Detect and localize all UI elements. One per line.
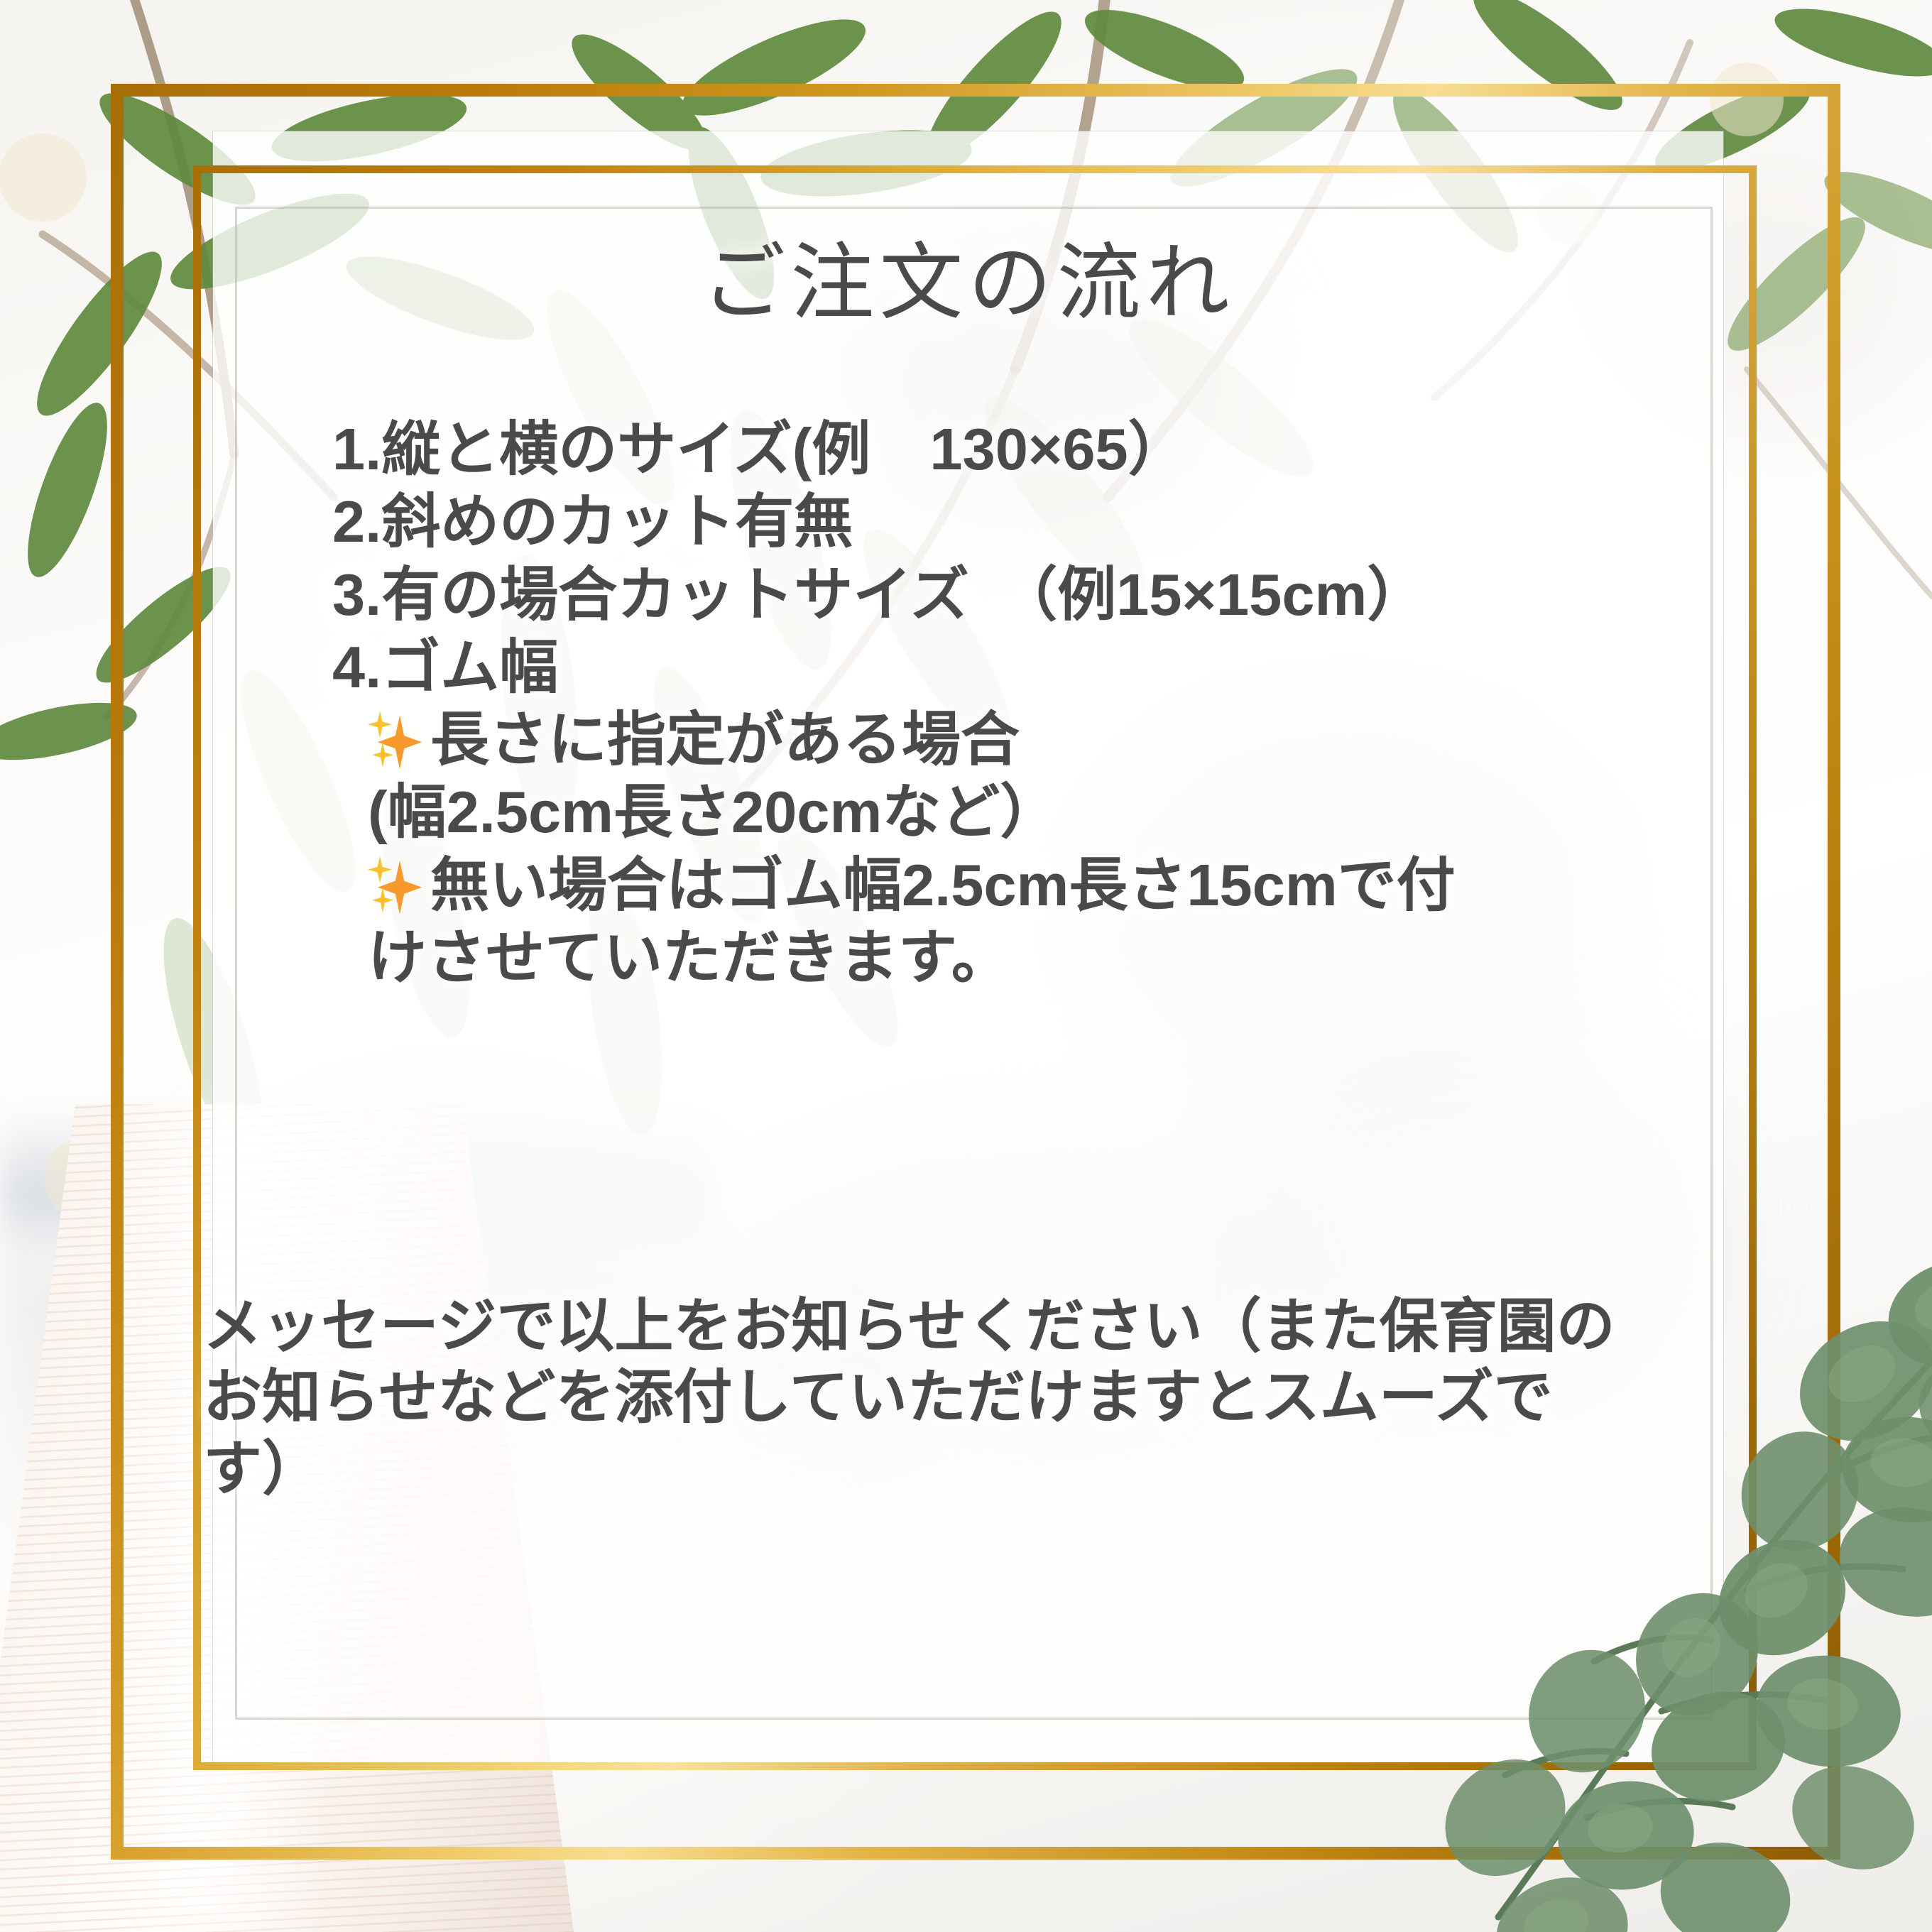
note-1-text: 長さに指定がある場合 [430,706,1020,774]
footer-line-1: メッセージで以上をお知らせください（また保育園の [203,1292,1730,1360]
poster-content: ご注文の流れ 1.縦と横のサイズ(例 130×65） 2.斜めのカット有無 3.… [213,131,1723,1766]
list-item-step-4: 4.ゴム幅 [261,633,1695,702]
sparkles-icon [368,709,429,770]
list-item-step-2: 2.斜めのカット有無 [261,488,1695,556]
footer-line-2: お知らせなどを添付していただけますとスムーズで [203,1363,1730,1431]
footer-paragraph: メッセージで以上をお知らせください（また保育園の お知らせなどを添付していただけ… [203,1292,1730,1506]
note-line-1: 長さに指定がある場合 [261,706,1695,774]
list-item-step-3: 3.有の場合カットサイズ （例15×15cm） [261,561,1695,629]
steps-list: 1.縦と横のサイズ(例 130×65） 2.斜めのカット有無 3.有の場合カット… [261,415,1695,996]
note-2-text: 無い場合はゴム幅2.5cm長さ15cmで付 [430,851,1456,919]
list-item-step-1: 1.縦と横のサイズ(例 130×65） [261,415,1695,484]
footer-line-3: す） [203,1435,1730,1503]
sparkles-icon [368,855,429,916]
page-title: ご注文の流れ [213,241,1723,325]
poster-canvas: ご注文の流れ 1.縦と横のサイズ(例 130×65） 2.斜めのカット有無 3.… [0,0,1932,1932]
